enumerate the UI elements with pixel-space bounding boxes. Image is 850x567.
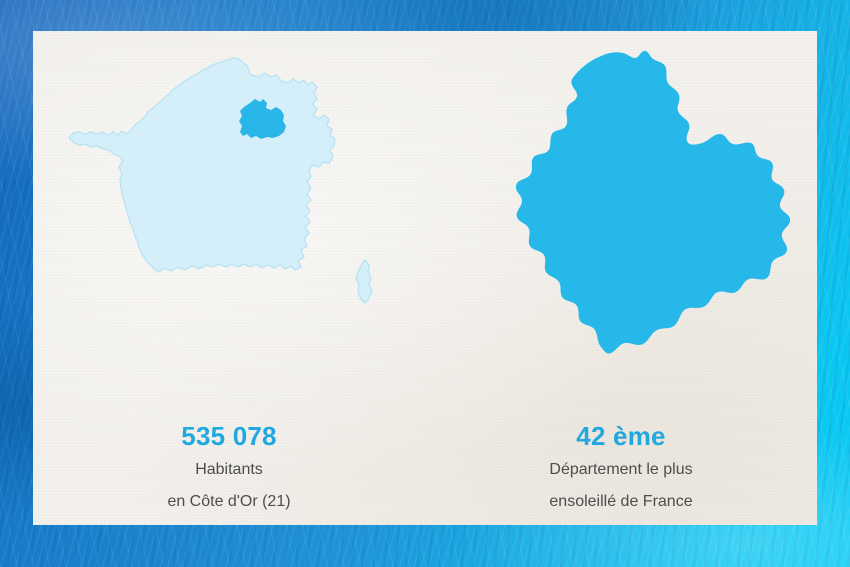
infographic-root: Dijon Beaune 535 078 Habitants en Côte d… (0, 0, 850, 567)
stat-block-sunshine-rank: 42 ème Département le plus ensoleillé de… (425, 421, 817, 510)
stat-label-population-line2: en Côte d'Or (21) (33, 494, 425, 510)
stat-value-population: 535 078 (33, 421, 425, 452)
cote-dor-department-shape (516, 51, 790, 354)
stat-block-population: 535 078 Habitants en Côte d'Or (21) (33, 421, 425, 510)
stat-value-sunshine-rank: 42 ème (425, 421, 817, 452)
france-map-panel (33, 31, 425, 376)
corsica-shape (356, 260, 372, 303)
content-card: Dijon Beaune 535 078 Habitants en Côte d… (33, 31, 817, 525)
france-map (51, 53, 407, 353)
maps-row: Dijon Beaune (33, 31, 817, 376)
stat-label-sunshine-line2: ensoleillé de France (425, 494, 817, 510)
stat-label-sunshine-line1: Département le plus (425, 462, 817, 478)
cote-dor-map (495, 45, 815, 375)
stats-row: 535 078 Habitants en Côte d'Or (21) 42 è… (33, 421, 817, 510)
cote-dor-map-panel: Dijon Beaune (425, 31, 817, 376)
stat-label-population-line1: Habitants (33, 462, 425, 478)
france-mainland-shape (69, 58, 335, 272)
